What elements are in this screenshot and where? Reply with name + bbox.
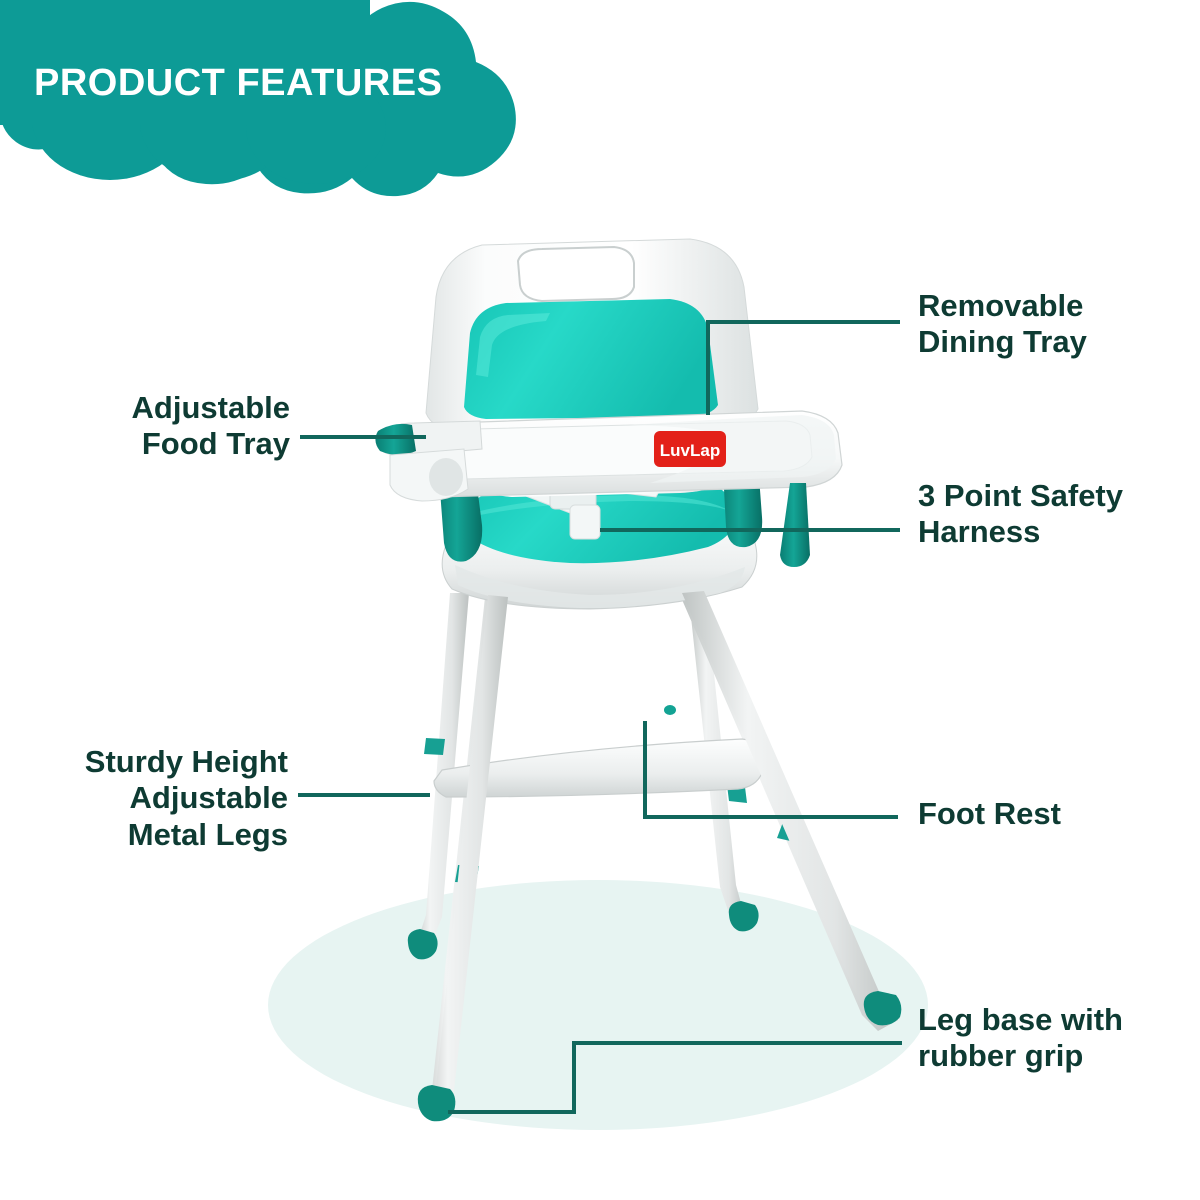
page-title: PRODUCT FEATURES [34, 62, 442, 105]
backrest-cushion [464, 299, 718, 419]
carry-handle-cutout [518, 247, 634, 301]
brand-logo-badge: LuvLap [654, 431, 726, 467]
callout-label-foot-rest: Foot Rest [918, 796, 1168, 832]
front-leg-overlay [422, 591, 900, 1115]
tray-support-right [780, 483, 810, 567]
callout-label-metal-legs: Sturdy Height Adjustable Metal Legs [18, 744, 288, 853]
callout-label-safety-harness: 3 Point Safety Harness [918, 478, 1180, 551]
callout-label-leg-base: Leg base with rubber grip [918, 1002, 1178, 1075]
callout-label-adjustable-food-tray: Adjustable Food Tray [40, 390, 290, 463]
product-image-high-chair: LuvLap [250, 225, 950, 1155]
callout-label-removable-dining-tray: Removable Dining Tray [918, 288, 1190, 361]
product-features-infographic: PRODUCT FEATURES [0, 0, 1200, 1200]
header-cloud-shape: PRODUCT FEATURES [0, 0, 530, 200]
brand-logo-text: LuvLap [660, 441, 720, 460]
backrest-shell [426, 239, 758, 433]
